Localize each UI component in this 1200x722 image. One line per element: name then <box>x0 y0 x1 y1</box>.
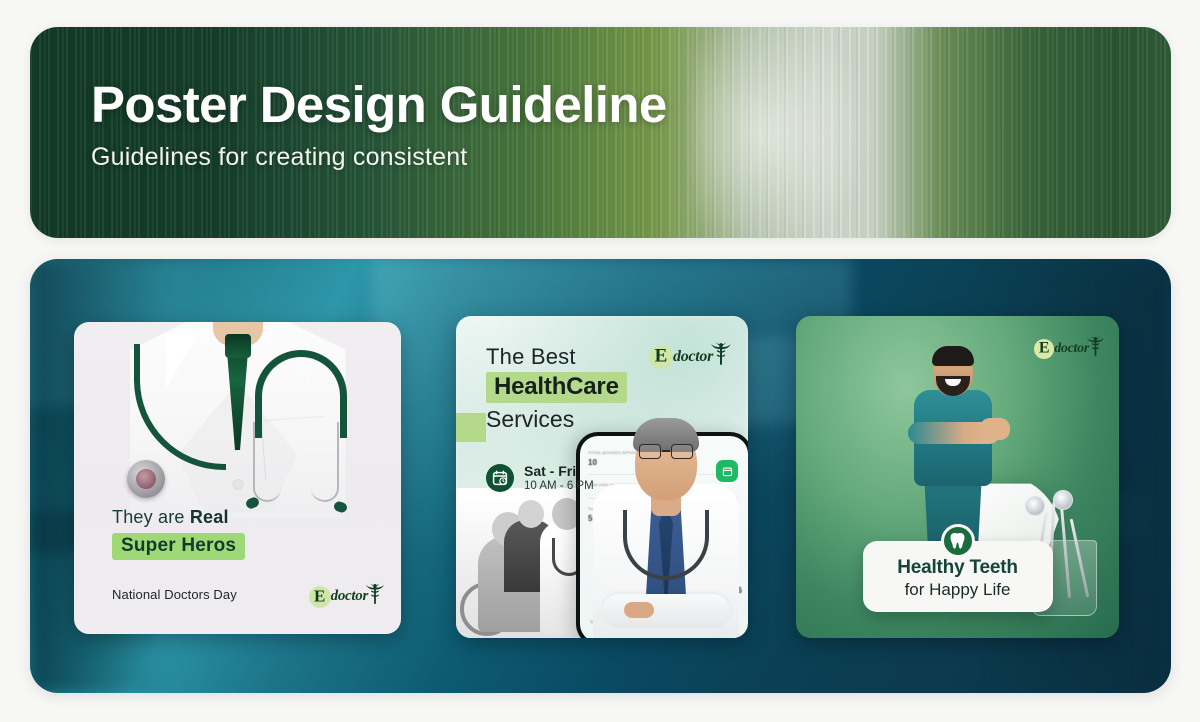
edoctor-logo: E doctor <box>649 342 732 371</box>
nurse-head-graphic <box>518 500 544 528</box>
header-banner: Poster Design Guideline Guidelines for c… <box>30 27 1171 238</box>
stethoscope-chestpiece-icon <box>127 460 165 498</box>
poster3-headline-line1: Healthy Teeth <box>873 557 1043 579</box>
poster-card-healthy-teeth[interactable]: E doctor <box>796 316 1119 638</box>
poster2-highlight-bleed <box>456 413 486 442</box>
eyeglasses-icon <box>639 444 693 460</box>
dentist-hand <box>980 418 1010 440</box>
poster-card-national-doctors-day[interactable]: They are Real Super Heros National Docto… <box>74 322 401 634</box>
logo-wordmark: doctor <box>331 588 368 605</box>
logo-circle: E <box>649 345 673 369</box>
stethoscope-wire-left <box>253 422 281 502</box>
poster1-headline-line1-bold: Real <box>190 507 229 527</box>
doctor2-crossed-arms <box>602 594 730 628</box>
page-title: Poster Design Guideline <box>91 77 667 132</box>
tooth-icon <box>941 524 975 558</box>
logo-circle: E <box>1034 339 1054 359</box>
necktie-knot <box>225 334 251 358</box>
poster3-headline-line2: for Happy Life <box>873 580 1043 600</box>
logo-letter-e: E <box>314 586 325 606</box>
stethoscope-wire-right <box>311 422 339 502</box>
caduceus-icon <box>1086 336 1105 362</box>
poster1-headline-line1: They are Real <box>112 507 245 528</box>
dental-mirror-icon <box>1025 496 1045 516</box>
poster1-headline-line1-plain: They are <box>112 507 190 527</box>
poster1-caption: National Doctors Day <box>112 587 237 602</box>
calendar-clock-icon <box>486 464 514 492</box>
doctor2-hand <box>624 602 654 618</box>
poster2-headline-line1: The Best <box>486 344 627 370</box>
dentist-hair <box>932 346 974 366</box>
poster2-schedule-hours: 10 AM - 6 PM <box>524 480 594 494</box>
logo-circle: E <box>309 586 331 608</box>
caduceus-icon <box>710 342 732 371</box>
page-subtitle: Guidelines for creating consistent <box>91 143 667 172</box>
poster-design-guideline-page: Poster Design Guideline Guidelines for c… <box>0 0 1200 722</box>
coat-button <box>233 480 242 489</box>
dental-mirror-icon <box>1053 490 1073 510</box>
logo-letter-e: E <box>1039 340 1050 358</box>
logo-letter-e: E <box>655 345 668 367</box>
logo-wordmark: doctor <box>673 348 713 366</box>
logo-wordmark: doctor <box>1054 341 1089 357</box>
poster1-headline-block: They are Real Super Heros <box>112 507 245 560</box>
edoctor-logo: E doctor <box>309 583 385 610</box>
caduceus-icon <box>365 583 385 610</box>
poster2-doctor-graphic <box>590 398 742 638</box>
poster1-headline-line2: Super Heros <box>112 533 245 560</box>
poster2-schedule-days: Sat - Fri <box>524 463 594 479</box>
poster2-schedule-block: Sat - Fri 10 AM - 6 PM <box>486 463 594 494</box>
poster-card-healthcare-services[interactable]: The Best HealthCare Services E doctor <box>456 316 748 638</box>
header-text-block: Poster Design Guideline Guidelines for c… <box>91 77 667 172</box>
poster3-headline-card: Healthy Teeth for Happy Life <box>863 541 1053 612</box>
edoctor-logo: E doctor <box>1034 336 1105 362</box>
